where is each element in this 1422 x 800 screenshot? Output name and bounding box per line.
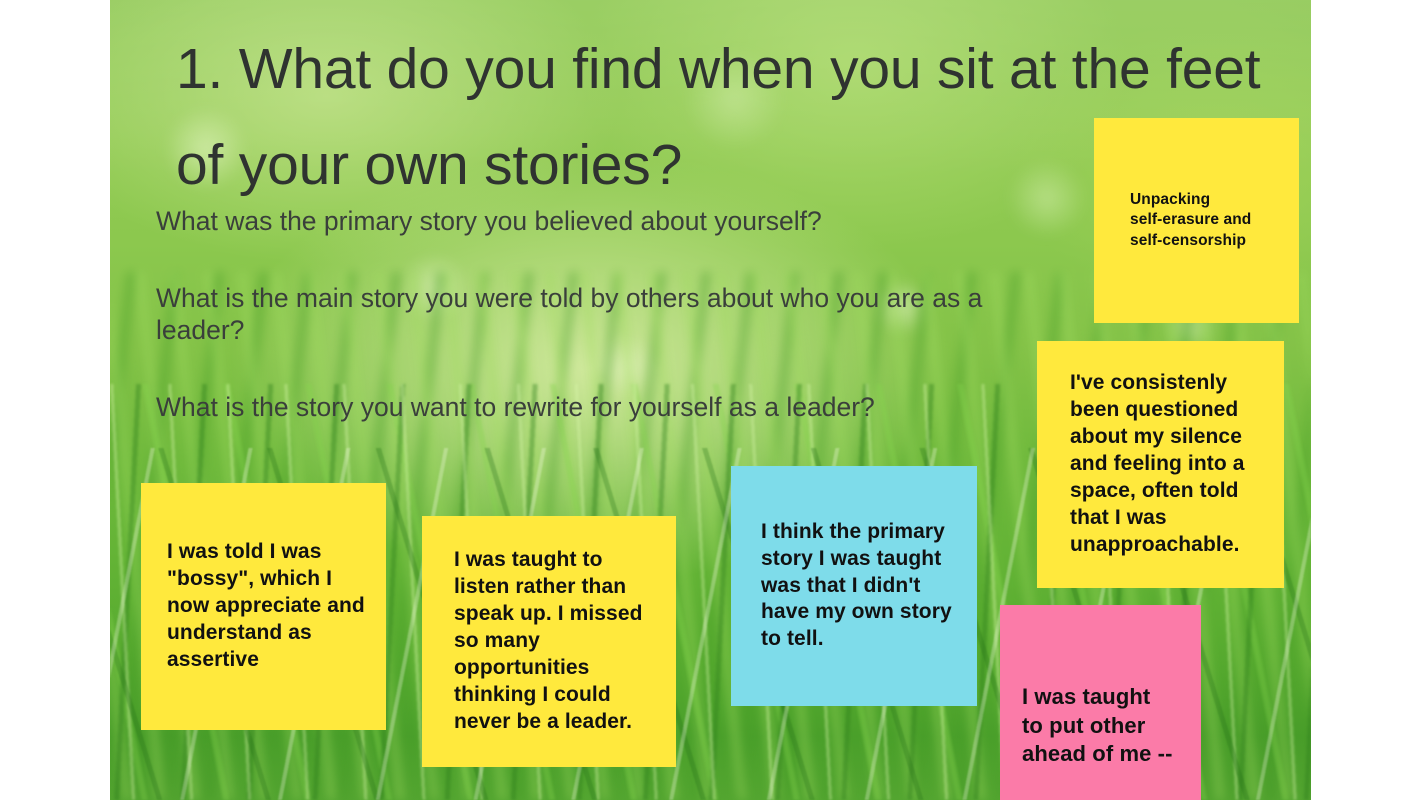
sticky-note-text: I was told I was "bossy", which I now ap… — [167, 539, 370, 673]
question-item-2: What is the main story you were told by … — [156, 282, 1056, 347]
sticky-note-bossy[interactable]: I was told I was "bossy", which I now ap… — [141, 483, 386, 730]
sticky-note-listen[interactable]: I was taught to listen rather than speak… — [422, 516, 676, 767]
sticky-note-unpacking[interactable]: Unpacking self-erasure and self-censorsh… — [1094, 118, 1299, 323]
sticky-note-text: I was taught to listen rather than speak… — [454, 547, 662, 735]
slide-canvas: 1. What do you find when you sit at the … — [110, 0, 1311, 800]
sticky-note-text: I think the primary story I was taught w… — [761, 519, 963, 653]
slide-content: 1. What do you find when you sit at the … — [110, 0, 1311, 800]
sticky-note-text: I was taught to put other ahead of me -- — [1022, 683, 1191, 769]
question-item-3: What is the story you want to rewrite fo… — [156, 391, 1056, 424]
question-list: What was the primary story you believed … — [156, 205, 1056, 423]
sticky-note-silence[interactable]: I've consistenly been questioned about m… — [1037, 341, 1284, 588]
question-item-1: What was the primary story you believed … — [156, 205, 1056, 238]
sticky-note-ahead-of-me[interactable]: I was taught to put other ahead of me -- — [1000, 605, 1201, 800]
sticky-note-text: Unpacking self-erasure and self-censorsh… — [1130, 190, 1299, 252]
sticky-note-primary-story[interactable]: I think the primary story I was taught w… — [731, 466, 977, 706]
sticky-note-text: I've consistenly been questioned about m… — [1070, 370, 1268, 558]
